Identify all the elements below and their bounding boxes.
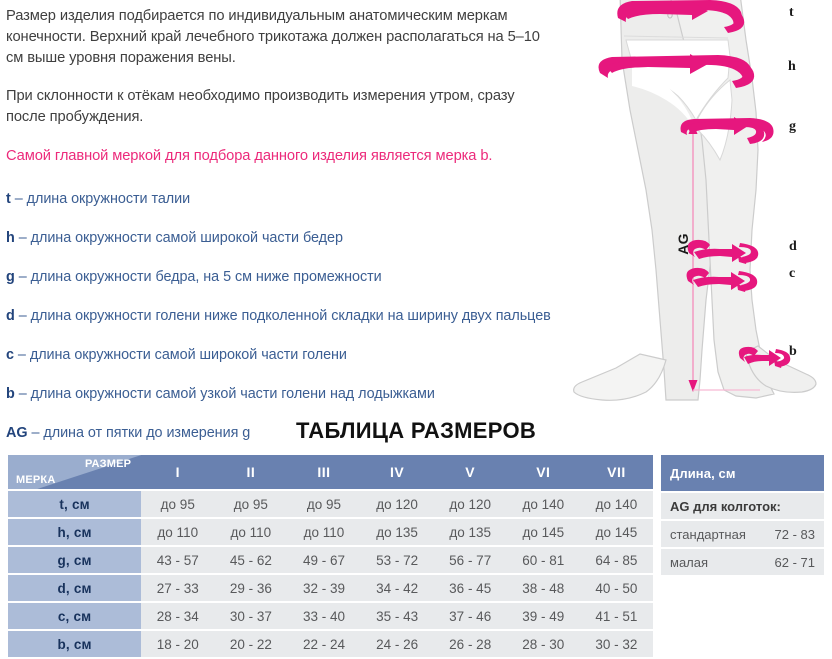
size-header-6: VI	[507, 455, 580, 489]
cell-h-2: до 110	[214, 519, 287, 545]
table-row: d, см 27 - 33 29 - 36 32 - 39 34 - 42 36…	[8, 575, 653, 601]
cell-b-6: 28 - 30	[507, 631, 580, 657]
cell-h-7: до 145	[580, 519, 653, 545]
legend-dash-g: –	[19, 269, 27, 285]
cell-d-3: 32 - 39	[287, 575, 360, 601]
cell-b-3: 22 - 24	[287, 631, 360, 657]
legend-dash-d: –	[19, 308, 27, 324]
table-row: c, см 28 - 34 30 - 37 33 - 40 35 - 43 37…	[8, 603, 653, 629]
length-label-small: малая	[670, 555, 708, 570]
row-label-g: g, см	[8, 547, 141, 573]
length-value-standard: 72 - 83	[775, 527, 815, 542]
row-label-c: c, см	[8, 603, 141, 629]
cell-d-7: 40 - 50	[580, 575, 653, 601]
illustration-label-c: c	[789, 266, 795, 282]
row-label-d: d, см	[8, 575, 141, 601]
cell-c-6: 39 - 49	[507, 603, 580, 629]
illustration-label-b: b	[789, 344, 797, 360]
legend-text-g: длина окружности бедра, на 5 см ниже про…	[31, 269, 382, 285]
cell-b-2: 20 - 22	[214, 631, 287, 657]
length-row-standard: 72 - 83 стандартная	[661, 521, 824, 547]
table-row: b, см 18 - 20 20 - 22 22 - 24 24 - 26 26…	[8, 631, 653, 657]
cell-g-4: 53 - 72	[361, 547, 434, 573]
size-table: МЕРКА РАЗМЕР I II III IV V VI VII t, см …	[8, 453, 653, 659]
legend-key-t: t	[6, 191, 11, 207]
length-header-row: Длина, см	[661, 455, 824, 491]
length-value-small: 62 - 71	[775, 555, 815, 570]
cell-t-2: до 95	[214, 491, 287, 517]
legend-text-d: длина окружности голени ниже подколенной…	[31, 308, 551, 324]
legend-item-b: b – длина окружности самой узкой части г…	[6, 384, 557, 404]
length-row-small: 62 - 71 малая	[661, 549, 824, 575]
table-row: g, см 43 - 57 45 - 62 49 - 67 53 - 72 56…	[8, 547, 653, 573]
row-label-t: t, см	[8, 491, 141, 517]
legend-key-d: d	[6, 308, 15, 324]
legend-text-b: длина окружности самой узкой части голен…	[31, 386, 435, 402]
cell-c-4: 35 - 43	[361, 603, 434, 629]
legend-item-h: h – длина окружности самой широкой части…	[6, 228, 557, 248]
legend-text-c: длина окружности самой широкой части гол…	[30, 347, 347, 363]
legend-key-c: c	[6, 347, 14, 363]
cell-t-4: до 120	[361, 491, 434, 517]
row-label-b: b, см	[8, 631, 141, 657]
cell-d-1: 27 - 33	[141, 575, 214, 601]
length-table: Длина, см AG для колготок: 72 - 83 станд…	[661, 453, 824, 577]
cell-b-5: 26 - 28	[434, 631, 507, 657]
cell-t-5: до 120	[434, 491, 507, 517]
instructions-panel: Размер изделия подбирается по индивидуал…	[0, 0, 565, 410]
cell-c-5: 37 - 46	[434, 603, 507, 629]
intro-paragraph-2: При склонности к отёкам необходимо произ…	[6, 86, 557, 128]
table-row: t, см до 95 до 95 до 95 до 120 до 120 до…	[8, 491, 653, 517]
size-header-1: I	[141, 455, 214, 489]
cell-g-7: 64 - 85	[580, 547, 653, 573]
cell-b-7: 30 - 32	[580, 631, 653, 657]
size-header-4: IV	[361, 455, 434, 489]
table-corner-cell: МЕРКА РАЗМЕР	[8, 455, 141, 489]
cell-c-7: 41 - 51	[580, 603, 653, 629]
cell-h-5: до 135	[434, 519, 507, 545]
cell-h-1: до 110	[141, 519, 214, 545]
legend-text-t: длина окружности талии	[27, 191, 191, 207]
cell-g-3: 49 - 67	[287, 547, 360, 573]
legend-key-b: b	[6, 386, 15, 402]
cell-h-3: до 110	[287, 519, 360, 545]
cell-b-1: 18 - 20	[141, 631, 214, 657]
cell-d-4: 34 - 42	[361, 575, 434, 601]
illustration-label-h: h	[788, 59, 796, 75]
legend-item-d: d – длина окружности голени ниже подколе…	[6, 306, 557, 326]
cell-t-6: до 140	[507, 491, 580, 517]
highlight-note: Самой главной меркой для подбора данного…	[6, 146, 557, 167]
size-header-3: III	[287, 455, 360, 489]
legend-item-c: c – длина окружности самой широкой части…	[6, 345, 557, 365]
cell-c-2: 30 - 37	[214, 603, 287, 629]
legend-dash-h: –	[19, 230, 27, 246]
cell-g-1: 43 - 57	[141, 547, 214, 573]
legend-dash-c: –	[18, 347, 26, 363]
length-row: 72 - 83 стандартная	[661, 521, 824, 547]
row-label-h: h, см	[8, 519, 141, 545]
legend-item-g: g – длина окружности бедра, на 5 см ниже…	[6, 267, 557, 287]
length-header: Длина, см	[661, 455, 824, 491]
length-row: 62 - 71 малая	[661, 549, 824, 575]
cell-g-5: 56 - 77	[434, 547, 507, 573]
cell-t-7: до 140	[580, 491, 653, 517]
cell-d-6: 38 - 48	[507, 575, 580, 601]
cell-t-3: до 95	[287, 491, 360, 517]
size-header-5: V	[434, 455, 507, 489]
illustration-label-d: d	[789, 239, 797, 255]
page-title: ТАБЛИЦА РАЗМЕРОВ	[0, 418, 832, 444]
length-subtitle: AG для колготок:	[661, 493, 824, 519]
legend-key-g: g	[6, 269, 15, 285]
corner-col-label: РАЗМЕР	[85, 458, 131, 470]
illustration-label-t: t	[789, 5, 794, 21]
cell-d-5: 36 - 45	[434, 575, 507, 601]
legend-item-t: t – длина окружности талии	[6, 189, 557, 209]
intro-paragraph-1: Размер изделия подбирается по индивидуал…	[6, 6, 557, 69]
cell-h-4: до 135	[361, 519, 434, 545]
length-label-standard: стандартная	[670, 527, 746, 542]
legend-text-h: длина окружности самой широкой части бед…	[31, 230, 343, 246]
table-header-row: МЕРКА РАЗМЕР I II III IV V VI VII	[8, 455, 653, 489]
cell-g-6: 60 - 81	[507, 547, 580, 573]
size-header-2: II	[214, 455, 287, 489]
cell-t-1: до 95	[141, 491, 214, 517]
cell-h-6: до 145	[507, 519, 580, 545]
length-row: AG для колготок:	[661, 493, 824, 519]
cell-g-2: 45 - 62	[214, 547, 287, 573]
size-header-7: VII	[580, 455, 653, 489]
legend-dash-b: –	[19, 386, 27, 402]
illustration-label-ag: AG	[675, 233, 691, 255]
cell-d-2: 29 - 36	[214, 575, 287, 601]
cell-b-4: 24 - 26	[361, 631, 434, 657]
corner-row-label: МЕРКА	[16, 474, 56, 486]
legend-dash-t: –	[15, 191, 23, 207]
cell-c-3: 33 - 40	[287, 603, 360, 629]
legend-key-h: h	[6, 230, 15, 246]
cell-c-1: 28 - 34	[141, 603, 214, 629]
table-row: h, см до 110 до 110 до 110 до 135 до 135…	[8, 519, 653, 545]
illustration-label-g: g	[789, 119, 796, 135]
